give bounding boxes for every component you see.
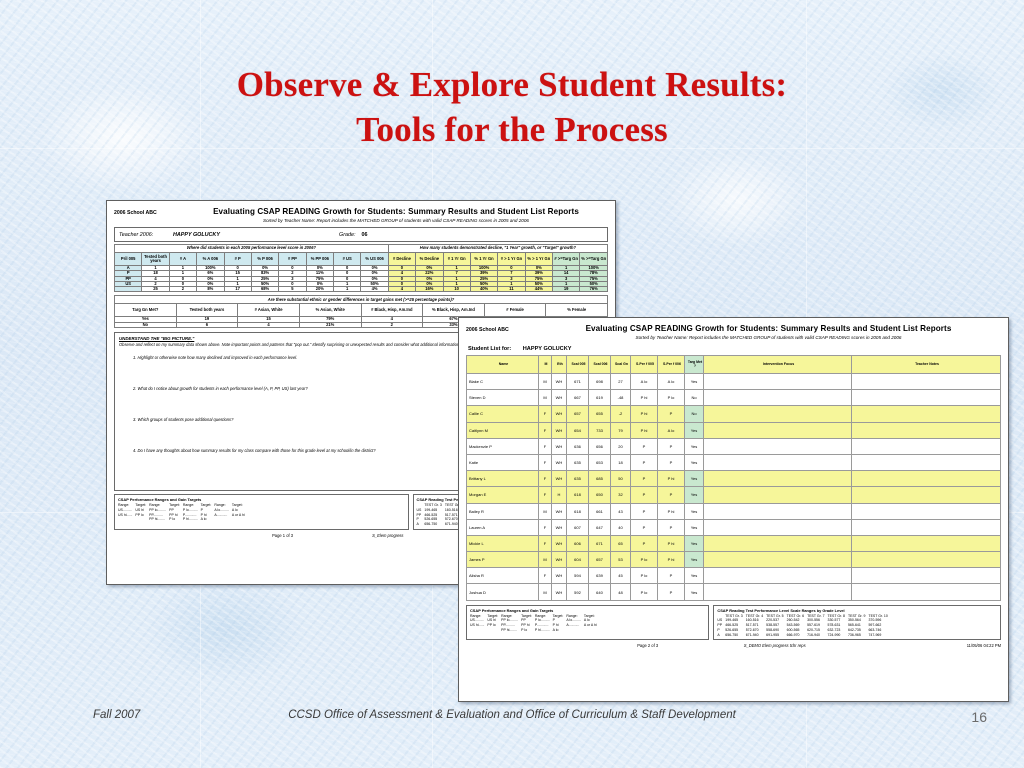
col-header-targ-met: Targ Met ? — [685, 356, 704, 374]
performance-ranges-title: CSAP Performance Ranges and Gain Targets — [118, 497, 405, 502]
summary-col-header: Tested both years — [142, 253, 169, 266]
total-cell: 1 — [334, 287, 361, 292]
col-header-intervention: Intervention Focus — [704, 356, 852, 374]
performance-ranges-box: CSAP Performance Ranges and Gain Targets… — [466, 605, 709, 641]
student-list-report-page[interactable]: 2006 School ABC Evaluating CSAP READING … — [458, 317, 1009, 702]
slide-title-line2: Tools for the Process — [0, 108, 1024, 153]
gender-col-header: # Female — [484, 304, 546, 317]
ranges-cell — [214, 517, 232, 522]
student-p06: P — [658, 454, 685, 470]
student-p05: P — [631, 535, 658, 551]
scale-cell: 691-955 — [766, 633, 786, 638]
student-list-body[interactable]: Blake CMWH67169827A loA loYesSteven DMWH… — [467, 374, 1001, 601]
student-intervention-focus — [704, 552, 852, 568]
summary-col-header: Pril 005 — [115, 253, 142, 266]
ranges-cell — [584, 628, 600, 633]
grade-value: 06 — [355, 232, 367, 238]
summary-col-header: % >=Targ Gn — [580, 253, 608, 266]
student-p05: A lo — [631, 374, 658, 390]
performance-ranges-box: CSAP Performance Ranges and Gain Targets… — [114, 494, 409, 530]
slide-footer: Fall 2007 CCSD Office of Assessment & Ev… — [0, 709, 1024, 733]
student-s05: 606 — [567, 535, 589, 551]
student-list-head: NameMEthScal 005Scal 006Scal GnS.Per f 0… — [467, 356, 1001, 374]
student-teacher-notes — [852, 487, 1001, 503]
student-e: WH — [552, 422, 567, 438]
student-intervention-focus — [704, 471, 852, 487]
teacher-name: HAPPY GOLUCKY — [173, 232, 293, 238]
student-s06: 661 — [589, 503, 611, 519]
summary-col-header: % P 006 — [251, 253, 278, 266]
student-p06: A lo — [658, 422, 685, 438]
student-target-met: Yes — [685, 535, 704, 551]
performance-ranges-table: Range:Target:Range:Target:Range:Target:R… — [470, 614, 600, 633]
student-row[interactable]: Bailey RMWH61866143PP hiYes — [467, 503, 1001, 519]
summary-col-header: % US 006 — [361, 253, 388, 266]
student-name: Bailey R — [467, 503, 539, 519]
total-cell: 20% — [306, 287, 333, 292]
student-p05: P hi — [631, 422, 658, 438]
student-s05: 604 — [567, 552, 589, 568]
school-tag: 2006 School ABC — [466, 324, 536, 333]
summary-report-header: 2006 School ABC Evaluating CSAP READING … — [114, 207, 608, 223]
page-label: Page 1 of 3 — [272, 533, 293, 538]
student-list-table[interactable]: NameMEthScal 005Scal 006Scal GnS.Per f 0… — [466, 355, 1001, 601]
ranges-cell: PP lo......... — [149, 508, 169, 513]
scale-row: A656-750671-940691-955666-970716-940724-… — [717, 633, 890, 638]
student-s05: 618 — [567, 487, 589, 503]
student-target-met: Yes — [685, 454, 704, 470]
ranges-cell: PP hi........ — [149, 517, 169, 522]
band-left-label: Where did students in each 2005 performa… — [115, 245, 389, 253]
student-g: F — [539, 406, 552, 422]
student-name: Steven D — [467, 390, 539, 406]
student-g: F — [539, 568, 552, 584]
student-name: James P — [467, 552, 539, 568]
student-p05: P lo — [631, 552, 658, 568]
gender-col-header: Tested both years — [176, 304, 238, 317]
footer-org-text: CCSD Office of Assessment & Evaluation a… — [0, 709, 1024, 721]
col-header-name: Name — [467, 356, 539, 374]
student-p05: P hi — [631, 406, 658, 422]
student-s06: 657 — [589, 552, 611, 568]
summary-header-row: Pril 005Tested both years# A% A 006# P% … — [115, 253, 608, 266]
student-gn: 48 — [611, 584, 631, 600]
scale-cell: 671-940 — [746, 633, 766, 638]
ranges-cell — [487, 628, 501, 633]
student-s06: 656 — [589, 438, 611, 454]
gender-band-row: Are there substantial ethnic or gender d… — [115, 296, 608, 304]
value-cell: 21% — [299, 322, 361, 327]
ranges-cell: P hi......... — [183, 517, 201, 522]
student-p06: A lo — [658, 374, 685, 390]
student-gn: 79 — [611, 422, 631, 438]
doc-label: S_DEMO Elem progress tchr reps — [744, 643, 806, 648]
student-p05: P hi — [631, 390, 658, 406]
student-p06: P hi — [658, 471, 685, 487]
summary-col-header: % A 006 — [197, 253, 224, 266]
student-e: WH — [552, 519, 567, 535]
scale-ranges-title: CSAP Reading Test Performance Level Scal… — [717, 608, 997, 613]
page-label: Page 2 of 3 — [637, 643, 658, 648]
student-target-met: Yes — [685, 374, 704, 390]
student-e: H — [552, 487, 567, 503]
student-row[interactable]: Alisha RFWH59463945P loPYes — [467, 568, 1001, 584]
student-g: F — [539, 471, 552, 487]
student-p06: P lo — [658, 390, 685, 406]
summary-col-header: # > 1 Yr Gn — [498, 253, 525, 266]
student-p05: P lo — [631, 568, 658, 584]
total-cell: 10 — [443, 287, 470, 292]
student-e: WH — [552, 535, 567, 551]
gender-label-cell: No — [115, 322, 177, 327]
student-p05: P lo — [631, 584, 658, 600]
student-gn: 40 — [611, 519, 631, 535]
student-g: F — [539, 422, 552, 438]
student-p06: P — [658, 519, 685, 535]
gender-col-header: % Asian, White — [299, 304, 361, 317]
gender-col-header: % Female — [546, 304, 608, 317]
student-gn: -2 — [611, 406, 631, 422]
summary-col-header: % 1 Yr Gn — [470, 253, 497, 266]
student-gn: 20 — [611, 438, 631, 454]
total-cell: 25 — [142, 287, 169, 292]
student-s05: 592 — [567, 584, 589, 600]
ranges-row: PP hi........P loP hi.........A lo — [470, 628, 600, 633]
student-target-met: Yes — [685, 503, 704, 519]
student-intervention-focus — [704, 487, 852, 503]
doc-label: S_Elem progress — [372, 533, 403, 538]
total-cell: 76% — [580, 287, 608, 292]
student-target-met: Yes — [685, 422, 704, 438]
summary-body: A11100%00%00%00%00%1100%00%1100%P1816%15… — [115, 266, 608, 292]
student-intervention-focus — [704, 454, 852, 470]
student-p05: P — [631, 471, 658, 487]
student-e: WH — [552, 503, 567, 519]
student-s05: 654 — [567, 422, 589, 438]
student-target-met: Yes — [685, 584, 704, 600]
student-teacher-notes — [852, 584, 1001, 600]
student-teacher-notes — [852, 438, 1001, 454]
summary-col-header: # US — [334, 253, 361, 266]
student-g: M — [539, 552, 552, 568]
summary-col-header: # Decline — [388, 253, 415, 266]
student-g: M — [539, 390, 552, 406]
student-e: WH — [552, 374, 567, 390]
summary-col-header: % PP 006 — [306, 253, 333, 266]
student-list-page-footer: Page 2 of 3 S_DEMO Elem progress tchr re… — [466, 643, 1001, 648]
student-teacher-notes — [852, 422, 1001, 438]
student-p06: P hi — [658, 535, 685, 551]
teacher-info-bar: Teacher 2006: HAPPY GOLUCKY Grade: 06 — [114, 227, 608, 242]
col-header-scale-gn: Scal Gn — [611, 356, 631, 374]
student-row[interactable]: Steven DMWH667619-48P hiP loNo — [467, 390, 1001, 406]
student-gn: 65 — [611, 535, 631, 551]
student-teacher-notes — [852, 374, 1001, 390]
ranges-cell — [566, 628, 584, 633]
student-e: WH — [552, 406, 567, 422]
gender-col-header: % Black, Hisp, Am.Ind — [423, 304, 485, 317]
total-cell: 2 — [169, 287, 196, 292]
total-cell: 19 — [553, 287, 580, 292]
student-g: F — [539, 535, 552, 551]
student-p05: P — [631, 454, 658, 470]
total-cell: 17 — [224, 287, 251, 292]
student-e: WH — [552, 568, 567, 584]
report-subtitle: Sorted by Teacher Name: Report includes … — [184, 218, 608, 223]
student-teacher-notes — [852, 503, 1001, 519]
level-cell — [115, 287, 142, 292]
timestamp: 11/05/06 04:22 PM — [967, 643, 1001, 648]
student-s06: 639 — [589, 568, 611, 584]
col-header-perf06: S.Per f 006 — [658, 356, 685, 374]
student-s05: 671 — [567, 374, 589, 390]
student-g: F — [539, 454, 552, 470]
slide-title: Observe & Explore Student Results: Tools… — [0, 63, 1024, 153]
ranges-row: PP hi........P loP hi.........A lo — [118, 517, 248, 522]
student-s05: 667 — [567, 390, 589, 406]
student-list-legend-row: CSAP Performance Ranges and Gain Targets… — [466, 605, 1001, 641]
student-gn: 27 — [611, 374, 631, 390]
student-s06: 733 — [589, 422, 611, 438]
scale-cell: A — [417, 522, 425, 527]
student-s06: 671 — [589, 535, 611, 551]
student-p06: P — [658, 584, 685, 600]
student-p06: P hi — [658, 503, 685, 519]
student-teacher-notes — [852, 519, 1001, 535]
grade-label: Grade: — [293, 232, 355, 238]
gender-col-header: Targ Gn Met? — [115, 304, 177, 317]
student-teacher-notes — [852, 552, 1001, 568]
scale-cell: 656-750 — [424, 522, 444, 527]
student-p06: P — [658, 568, 685, 584]
student-g: F — [539, 438, 552, 454]
student-row[interactable]: Caitlynn MFWH65473379P hiA loYes — [467, 422, 1001, 438]
student-intervention-focus — [704, 374, 852, 390]
col-header-ethnic: Eth — [552, 356, 567, 374]
band-right-label: How many students demonstrated decline, … — [388, 245, 607, 253]
total-cell: 8% — [197, 287, 224, 292]
student-list-for: Student List for: HAPPY GOLUCKY — [468, 346, 1001, 352]
student-s05: 657 — [567, 406, 589, 422]
gender-col-header: # Black, Hisp, Am.Ind — [361, 304, 423, 317]
student-row[interactable]: Blake CMWH67169827A loA loYes — [467, 374, 1001, 390]
scale-ranges-box: CSAP Reading Test Performance Level Scal… — [713, 605, 1001, 641]
teacher-label: Teacher 2006: — [115, 232, 173, 238]
report-title: Evaluating CSAP READING Growth for Stude… — [536, 324, 1001, 333]
student-teacher-notes — [852, 454, 1001, 470]
student-row[interactable]: Callie CFWH657655-2P hiPNo — [467, 406, 1001, 422]
student-e: WH — [552, 438, 567, 454]
student-gn: 32 — [611, 487, 631, 503]
summary-col-header: # 1 Yr Gn — [443, 253, 470, 266]
student-s06: 619 — [589, 390, 611, 406]
student-name: Joshua D — [467, 584, 539, 600]
student-target-met: Yes — [685, 487, 704, 503]
student-p06: P hi — [658, 552, 685, 568]
student-s05: 636 — [567, 438, 589, 454]
student-s06: 647 — [589, 519, 611, 535]
student-s06: 650 — [589, 487, 611, 503]
student-list-label: Student List for: — [468, 346, 511, 352]
student-intervention-focus — [704, 519, 852, 535]
student-p05: P — [631, 487, 658, 503]
student-name: Caitlynn M — [467, 422, 539, 438]
student-name: Alisha R — [467, 568, 539, 584]
student-p06: P — [658, 438, 685, 454]
total-cell: 40% — [470, 287, 497, 292]
value-cell: 2 — [361, 322, 423, 327]
col-header-perf05: S.Per f 005 — [631, 356, 658, 374]
student-p05: P — [631, 503, 658, 519]
scale-cell: 747-969 — [868, 633, 890, 638]
student-gn: 45 — [611, 568, 631, 584]
student-s06: 640 — [589, 584, 611, 600]
col-header-teacher-notes: Teacher Notes — [852, 356, 1001, 374]
col-header-scale05: Scal 005 — [567, 356, 589, 374]
student-s06: 685 — [589, 471, 611, 487]
student-s05: 635 — [567, 454, 589, 470]
summary-band-row: Where did students in each 2005 performa… — [115, 245, 608, 253]
ranges-cell: P lo — [169, 517, 183, 522]
ranges-cell — [118, 517, 135, 522]
student-e: WH — [552, 552, 567, 568]
performance-ranges-table: Range:Target:Range:Target:Range:Target:R… — [118, 503, 248, 522]
scale-cell: 736-965 — [848, 633, 868, 638]
ranges-cell: A lo — [201, 517, 215, 522]
student-target-met: Yes — [685, 438, 704, 454]
student-teacher-notes — [852, 406, 1001, 422]
value-cell: 6 — [176, 322, 238, 327]
student-row[interactable]: Morgan EFH61865032PPYes — [467, 487, 1001, 503]
report-title: Evaluating CSAP READING Growth for Stude… — [184, 207, 608, 216]
student-gn: -48 — [611, 390, 631, 406]
student-list-teacher: HAPPY GOLUCKY — [523, 346, 572, 352]
ranges-row: US.........US hiPP lo.........PPP lo....… — [118, 508, 248, 513]
student-target-met: Yes — [685, 552, 704, 568]
student-s06: 655 — [589, 406, 611, 422]
student-row[interactable]: James PMWH60465753P loP hiYes — [467, 552, 1001, 568]
student-list-header-row: NameMEthScal 005Scal 006Scal GnS.Per f 0… — [467, 356, 1001, 374]
ranges-cell: P hi......... — [535, 628, 553, 633]
student-g: M — [539, 503, 552, 519]
student-p05: P — [631, 438, 658, 454]
student-teacher-notes — [852, 471, 1001, 487]
student-e: WH — [552, 471, 567, 487]
student-s05: 594 — [567, 568, 589, 584]
summary-growth-table: Where did students in each 2005 performa… — [114, 244, 608, 292]
student-e: WH — [552, 390, 567, 406]
summary-col-header: % > 1 Yr Gn — [525, 253, 552, 266]
student-s05: 635 — [567, 471, 589, 487]
footer-page-number: 16 — [971, 709, 987, 725]
student-intervention-focus — [704, 503, 852, 519]
summary-total-row: 2528%1768%520%14%416%1040%1144%1976% — [115, 287, 608, 292]
student-target-met: No — [685, 406, 704, 422]
student-target-met: No — [685, 390, 704, 406]
ranges-cell: A lo — [553, 628, 567, 633]
scale-ranges-table: TEST Gr. 3TEST Gr. 4TEST Gr. 5TEST Gr. 6… — [717, 614, 890, 638]
gender-col-header: # Asian, White — [238, 304, 300, 317]
student-gn: 43 — [611, 503, 631, 519]
total-cell: 4% — [361, 287, 388, 292]
student-name: Morgan E — [467, 487, 539, 503]
summary-col-header: # P — [224, 253, 251, 266]
scale-cell: 716-940 — [807, 633, 827, 638]
student-gn: 53 — [611, 552, 631, 568]
student-row[interactable]: Mackenzie PFWH63665620PPYes — [467, 438, 1001, 454]
student-row[interactable]: Mickie LFWH60667165PP hiYes — [467, 535, 1001, 551]
student-s05: 607 — [567, 519, 589, 535]
student-e: WH — [552, 454, 567, 470]
student-g: F — [539, 519, 552, 535]
summary-col-header: % Decline — [416, 253, 443, 266]
student-p06: P — [658, 406, 685, 422]
gender-header-row: Targ Gn Met?Tested both years# Asian, Wh… — [115, 304, 608, 317]
student-name: Blake C — [467, 374, 539, 390]
student-gn: 50 — [611, 471, 631, 487]
scale-cell: 724-990 — [828, 633, 848, 638]
student-row[interactable]: Lauren AFWH60764740PPYes — [467, 519, 1001, 535]
total-cell: 11 — [498, 287, 525, 292]
student-s06: 653 — [589, 454, 611, 470]
student-row[interactable]: Brittany LFWH63568550PP hiYes — [467, 471, 1001, 487]
student-name: Katie — [467, 454, 539, 470]
summary-col-header: # A — [169, 253, 196, 266]
col-header-gender: M — [539, 356, 552, 374]
student-intervention-focus — [704, 584, 852, 600]
total-cell: 16% — [416, 287, 443, 292]
student-target-met: Yes — [685, 519, 704, 535]
student-target-met: Yes — [685, 568, 704, 584]
student-s06: 698 — [589, 374, 611, 390]
student-p05: P — [631, 519, 658, 535]
report-subtitle: Sorted by Teacher Name: Report includes … — [536, 335, 1001, 340]
summary-col-header: # PP — [279, 253, 306, 266]
slide-title-line1: Observe & Explore Student Results: — [237, 65, 788, 104]
student-name: Mickie L — [467, 535, 539, 551]
student-intervention-focus — [704, 568, 852, 584]
ranges-cell: PP hi........ — [501, 628, 521, 633]
student-row[interactable]: KatieFWH63565318PPYes — [467, 454, 1001, 470]
student-name: Mackenzie P — [467, 438, 539, 454]
student-name: Lauren A — [467, 519, 539, 535]
ranges-cell — [470, 628, 487, 633]
ranges-cell — [135, 517, 149, 522]
student-intervention-focus — [704, 535, 852, 551]
gender-band-label: Are there substantial ethnic or gender d… — [115, 296, 608, 304]
student-name: Callie C — [467, 406, 539, 422]
scale-cell: 656-750 — [725, 633, 745, 638]
student-intervention-focus — [704, 422, 852, 438]
student-g: M — [539, 584, 552, 600]
total-cell: 4 — [388, 287, 415, 292]
value-cell: 4 — [238, 322, 300, 327]
ranges-cell — [232, 517, 248, 522]
scale-cell: A — [717, 633, 725, 638]
total-cell: 44% — [525, 287, 552, 292]
total-cell: 68% — [251, 287, 278, 292]
scale-cell: 666-970 — [787, 633, 807, 638]
student-row[interactable]: Joshua DMWH59264048P loPYes — [467, 584, 1001, 600]
student-list-header: 2006 School ABC Evaluating CSAP READING … — [466, 324, 1001, 340]
student-intervention-focus — [704, 390, 852, 406]
col-header-scale06: Scal 006 — [589, 356, 611, 374]
student-e: WH — [552, 584, 567, 600]
student-p06: P — [658, 487, 685, 503]
student-intervention-focus — [704, 438, 852, 454]
student-teacher-notes — [852, 535, 1001, 551]
student-g: M — [539, 374, 552, 390]
